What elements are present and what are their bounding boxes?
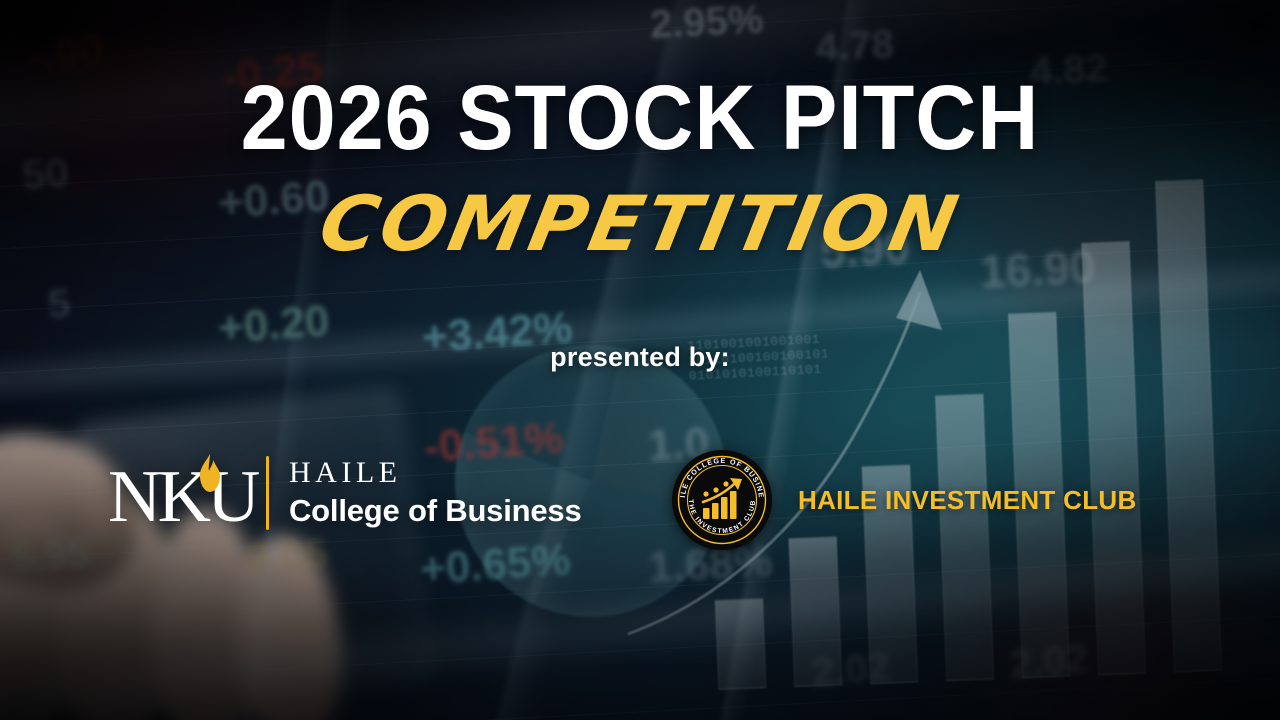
presented-by-label: presented by:: [0, 342, 1280, 373]
bar-chart-arrow-icon: HAILE COLLEGE OF BUSINESS THE INVESTMENT…: [672, 450, 772, 550]
college-of-business-label: College of Business: [289, 492, 582, 530]
club-badge: HAILE COLLEGE OF BUSINESS THE INVESTMENT…: [672, 450, 772, 550]
flame-icon: [196, 453, 224, 493]
haile-college-text-block: HAILE College of Business: [289, 456, 582, 530]
nku-wordmark: NKU: [108, 450, 258, 536]
logo-divider: [266, 456, 269, 530]
stock-pitch-poster: 1101001001001001 10110100100100101 01010…: [0, 0, 1280, 720]
sponsor-logo-row: NKU HAILE College of Business: [0, 440, 1280, 580]
poster-title-primary: 2026 STOCK PITCH: [51, 72, 1229, 164]
haile-label: HAILE: [289, 456, 582, 490]
nku-haile-logo: NKU HAILE College of Business: [108, 450, 582, 536]
poster-title-secondary: COMPETITION: [0, 186, 1280, 262]
nku-letters: NKU: [108, 454, 256, 540]
poster-content: 2026 STOCK PITCH COMPETITION presented b…: [0, 0, 1280, 720]
club-name-label: HAILE INVESTMENT CLUB: [798, 485, 1137, 516]
investment-club-logo: HAILE COLLEGE OF BUSINESS THE INVESTMENT…: [672, 450, 1137, 550]
